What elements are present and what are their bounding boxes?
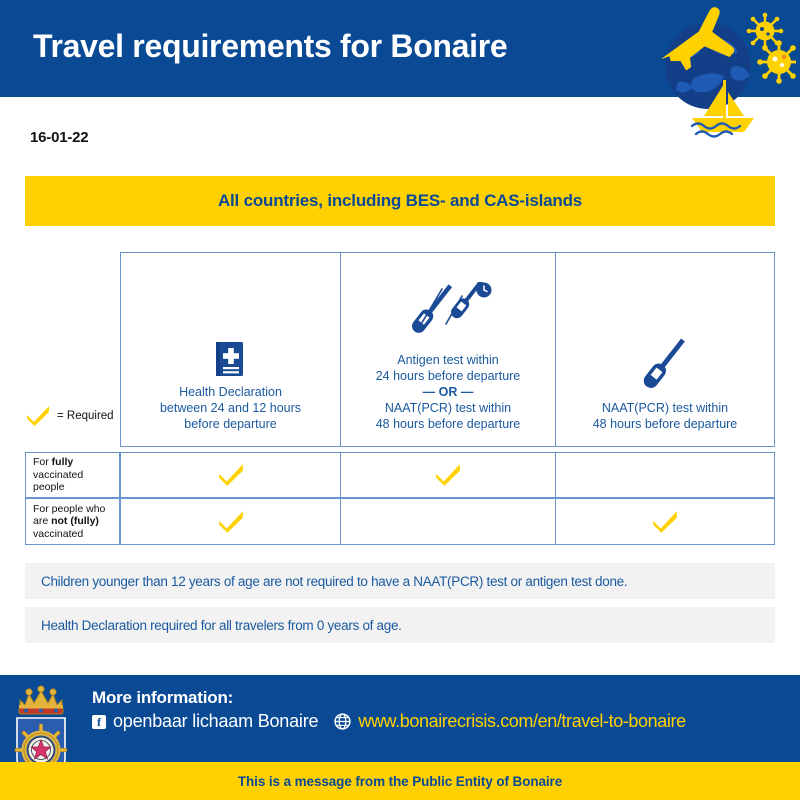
checkmark-icon <box>434 463 462 487</box>
note-health-declaration-all-ages: Health Declaration required for all trav… <box>25 607 775 643</box>
row-label-2-text: For people whoare not (fully)vaccinated <box>33 503 105 541</box>
requirement-column-3-label: NAAT(PCR) test within48 hours before dep… <box>587 400 744 432</box>
table-cell-r2c2[interactable] <box>340 498 556 545</box>
publication-date: 16-01-22 <box>30 129 88 146</box>
note-children-exemption: Children younger than 12 years of age ar… <box>25 563 775 599</box>
table-cell-r2c3[interactable] <box>555 498 775 545</box>
legend-required: = Required <box>25 405 120 427</box>
health-declaration-document-icon <box>216 342 246 376</box>
checkmark-icon <box>25 405 51 427</box>
footer-message-text: This is a message from the Public Entity… <box>238 774 562 789</box>
requirement-column-naat-pcr: NAAT(PCR) test within48 hours before dep… <box>555 252 775 447</box>
page-title: Travel requirements for Bonaire <box>33 28 507 65</box>
more-information-heading: More information: <box>92 688 233 708</box>
note-1-text: Children younger than 12 years of age ar… <box>41 574 627 589</box>
legend-required-label: = Required <box>57 410 114 422</box>
table-cell-r1c3[interactable] <box>555 452 775 498</box>
infographic-page: Travel requirements for Bonaire <box>0 0 800 800</box>
footer-contact-row: f openbaar lichaam Bonaire www.bonairecr… <box>92 711 686 732</box>
row-label-1-text: For fullyvaccinated people <box>33 456 115 494</box>
countries-banner: All countries, including BES- and CAS-is… <box>25 176 775 226</box>
requirement-column-2-label: Antigen test within24 hours before depar… <box>370 352 527 432</box>
single-test-swab-icon <box>636 336 694 392</box>
row-label-fully-vaccinated: For fullyvaccinated people <box>25 452 120 498</box>
two-test-swabs-clock-icon <box>402 282 494 344</box>
table-cell-r1c1[interactable] <box>120 452 341 498</box>
facebook-icon[interactable]: f <box>92 715 106 729</box>
checkmark-icon <box>651 510 679 534</box>
checkmark-icon <box>217 510 245 534</box>
requirement-column-1-label: Health Declarationbetween 24 and 12 hour… <box>154 384 307 432</box>
website-url[interactable]: www.bonairecrisis.com/en/travel-to-bonai… <box>358 711 685 732</box>
globe-plane-sailboat-virus-illustration <box>646 4 796 140</box>
footer-message-band: This is a message from the Public Entity… <box>0 762 800 800</box>
table-cell-r1c2[interactable] <box>340 452 556 498</box>
countries-banner-label: All countries, including BES- and CAS-is… <box>218 191 582 211</box>
facebook-page-name[interactable]: openbaar lichaam Bonaire <box>113 711 318 732</box>
requirement-column-health-declaration: Health Declarationbetween 24 and 12 hour… <box>120 252 341 447</box>
table-cell-r2c1[interactable] <box>120 498 341 545</box>
requirement-column-antigen-or-naat: Antigen test within24 hours before depar… <box>340 252 556 447</box>
globe-icon <box>334 713 351 730</box>
row-label-not-fully-vaccinated: For people whoare not (fully)vaccinated <box>25 498 120 545</box>
note-2-text: Health Declaration required for all trav… <box>41 618 402 633</box>
checkmark-icon <box>217 463 245 487</box>
